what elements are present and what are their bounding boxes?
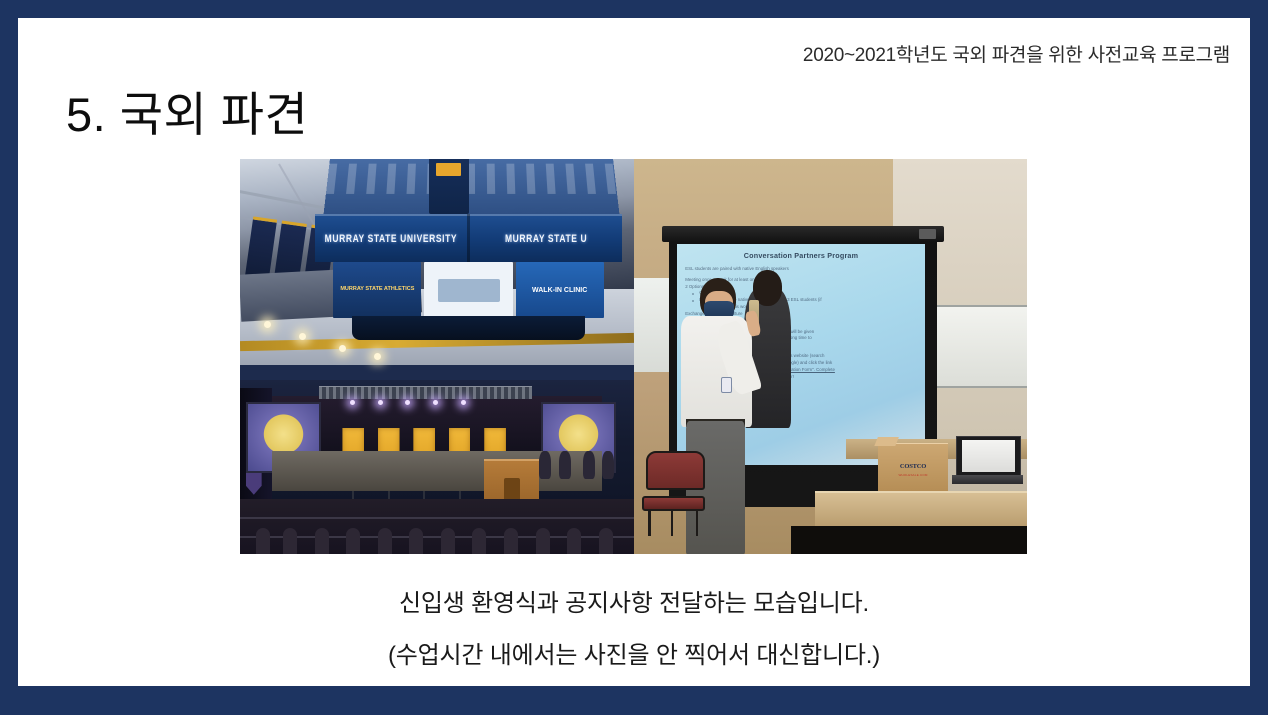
stage-light bbox=[461, 400, 466, 405]
chair-back bbox=[646, 451, 705, 490]
costco-brand-label: COSTCO bbox=[886, 463, 940, 470]
table-shadow bbox=[791, 526, 1027, 554]
jumbotron-panel-graphic bbox=[424, 262, 512, 318]
seated-guest bbox=[559, 451, 571, 479]
jumbotron-panel-clinic: WALK-IN CLINIC bbox=[516, 262, 604, 318]
projection-screen-case bbox=[662, 226, 945, 242]
costco-brand-sublabel: WHOLESALE.COM bbox=[886, 473, 940, 477]
page-title: 5. 국외 파견 bbox=[66, 76, 308, 145]
audience-section bbox=[240, 499, 634, 554]
projected-slide-title: Conversation Partners Program bbox=[685, 251, 917, 260]
stage-lighting-truss bbox=[319, 386, 532, 399]
audience-rail bbox=[240, 517, 634, 519]
caption-line-2: (수업시간 내에서는 사진을 안 찍어서 대신합니다.) bbox=[18, 635, 1250, 670]
presenter-badge bbox=[721, 377, 733, 393]
ceiling-light bbox=[339, 345, 346, 352]
ceiling-light bbox=[374, 353, 381, 360]
costco-box: COSTCO WHOLESALE.COM bbox=[878, 443, 949, 490]
jumbotron-top-screen bbox=[323, 159, 620, 218]
slide-root: 2020~2021학년도 국외 파견을 위한 사전교육 프로그램 5. 국외 파… bbox=[0, 0, 1268, 715]
seated-guest bbox=[602, 451, 614, 479]
photo-classroom-presentation: Conversation Partners Program ESL studen… bbox=[634, 159, 1027, 554]
laptop-screen bbox=[956, 436, 1021, 478]
laptop-keyboard bbox=[952, 475, 1022, 484]
jumbotron-name-band: MURRAY STATE UNIVERSITY MURRAY STATE U bbox=[315, 214, 622, 262]
chair-leg bbox=[696, 509, 699, 537]
projected-slide-line: ESL students are paired with native Engl… bbox=[685, 266, 917, 273]
seated-guest bbox=[583, 451, 595, 479]
photo-arena-welcome-ceremony: MURRAY STATE UNIVERSITY MURRAY STATE U M… bbox=[240, 159, 634, 554]
chair-leg bbox=[648, 509, 651, 537]
caption-line-1: 신입생 환영식과 공지사항 전달하는 모습입니다. bbox=[18, 583, 1250, 618]
seated-guest bbox=[539, 451, 551, 479]
jumbotron-amber-panel bbox=[429, 159, 469, 214]
photo-group: MURRAY STATE UNIVERSITY MURRAY STATE U M… bbox=[240, 159, 1027, 554]
jumbotron-panel-athletics: MURRAY STATE ATHLETICS bbox=[333, 262, 421, 318]
jumbotron-skirt bbox=[352, 316, 586, 340]
slide-header-note: 2020~2021학년도 국외 파견을 위한 사전교육 프로그램 bbox=[803, 40, 1230, 67]
ceiling-light bbox=[264, 321, 271, 328]
ceiling-light bbox=[299, 333, 306, 340]
jumbotron-text-left: MURRAY STATE UNIVERSITY bbox=[315, 232, 467, 245]
arena-jumbotron: MURRAY STATE UNIVERSITY MURRAY STATE U M… bbox=[315, 159, 622, 337]
slide-canvas: 2020~2021학년도 국외 파견을 위한 사전교육 프로그램 5. 국외 파… bbox=[18, 18, 1250, 686]
whiteboard-right bbox=[921, 305, 1027, 388]
jumbotron-lower-panels: MURRAY STATE ATHLETICS WALK-IN CLINIC bbox=[333, 262, 603, 318]
stage-light bbox=[378, 400, 383, 405]
chair-leg bbox=[671, 509, 674, 537]
whiteboard-left bbox=[634, 278, 671, 373]
stage-light bbox=[433, 400, 438, 405]
jumbotron-text-right: MURRAY STATE U bbox=[470, 232, 622, 245]
folding-chair bbox=[642, 451, 705, 538]
stage-deck bbox=[272, 451, 603, 491]
laptop bbox=[956, 436, 1019, 491]
front-table bbox=[815, 491, 1027, 529]
